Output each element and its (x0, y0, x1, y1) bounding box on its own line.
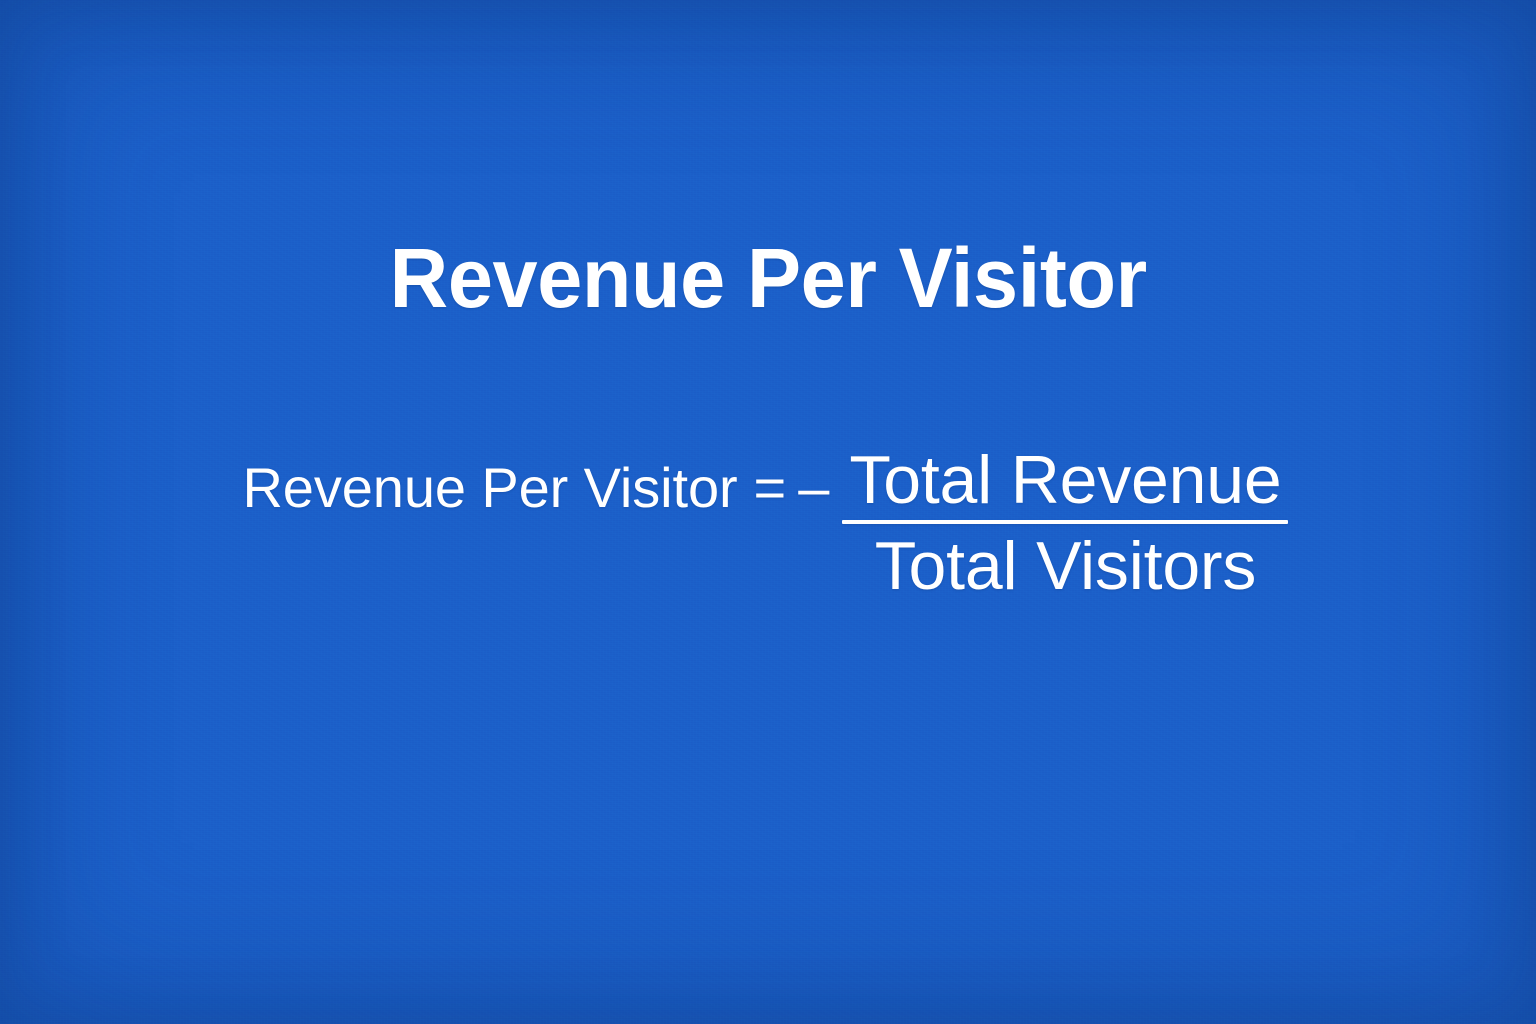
formula-block: Revenue Per Visitor = – Total Revenue To… (0, 412, 1536, 566)
fraction-denominator: Total Visitors (863, 524, 1268, 600)
formula-left-label: Revenue Per Visitor (242, 460, 737, 518)
slide-canvas: Revenue Per Visitor Revenue Per Visitor … (0, 0, 1536, 1024)
fraction: Total Revenue Total Visitors (837, 446, 1293, 600)
equals-sign: = (754, 460, 787, 518)
page-title: Revenue Per Visitor (27, 234, 1509, 323)
dash-glyph: – (798, 460, 829, 518)
fraction-numerator: Total Revenue (837, 446, 1293, 520)
